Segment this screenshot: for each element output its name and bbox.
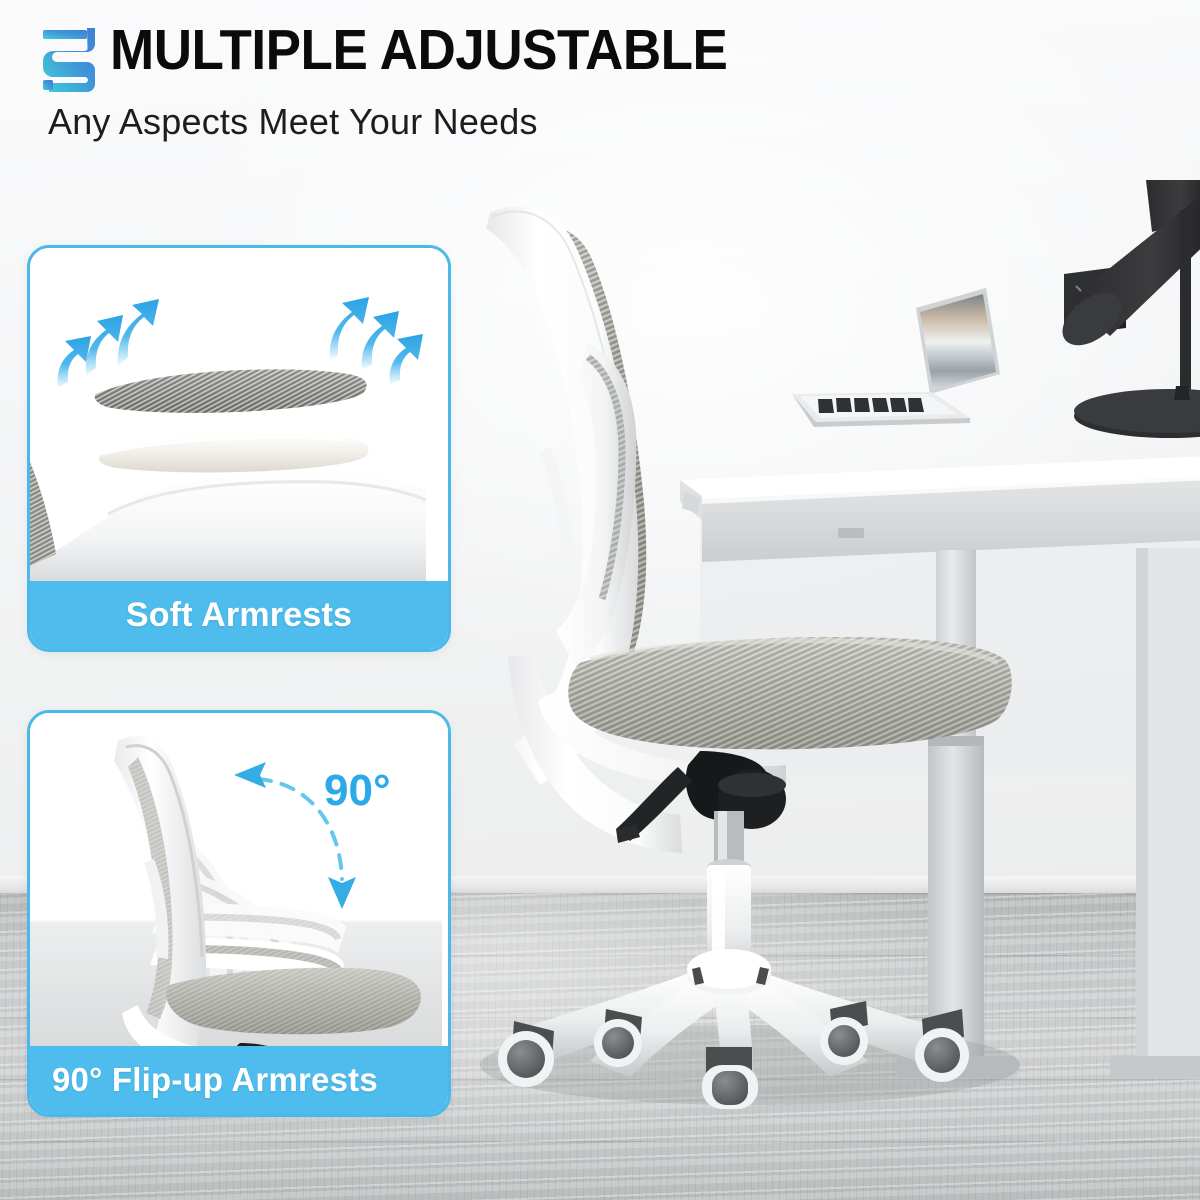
card-label-flip-up-armrests: 90° Flip-up Armrests bbox=[30, 1046, 451, 1114]
caster bbox=[702, 1047, 758, 1109]
brand-s-logo-icon bbox=[41, 26, 97, 92]
feature-card-soft-armrests[interactable]: Soft Armrests bbox=[27, 245, 451, 652]
mesh-top-pad bbox=[95, 369, 367, 413]
airflow-arrows-left bbox=[58, 299, 159, 388]
armrest-base-shell bbox=[30, 462, 426, 581]
page-title: MULTIPLE ADJUSTABLE bbox=[110, 22, 727, 79]
caster bbox=[498, 1021, 554, 1087]
feature-card-flip-up-armrests[interactable]: 90° 90° Flip-up Armrests bbox=[27, 710, 451, 1117]
page-subtitle: Any Aspects Meet Your Needs bbox=[48, 99, 538, 144]
mesh-seat bbox=[568, 637, 1011, 749]
armrest-flip-motion-diagram: 90° bbox=[30, 713, 448, 1046]
airflow-arrows-right bbox=[330, 297, 423, 384]
product-feature-graphic: MULTIPLE ADJUSTABLE Any Aspects Meet You… bbox=[0, 0, 1200, 1200]
office-chair bbox=[430, 185, 1050, 1125]
desk-lamp bbox=[1053, 180, 1200, 438]
foam-middle-pad bbox=[99, 434, 369, 472]
card-label-soft-armrests: Soft Armrests bbox=[30, 581, 448, 649]
chair-seat-side bbox=[166, 968, 421, 1034]
armrest-exploded-diagram bbox=[30, 248, 448, 581]
caster bbox=[915, 1009, 969, 1082]
angle-value-label: 90° bbox=[324, 766, 391, 815]
header: MULTIPLE ADJUSTABLE Any Aspects Meet You… bbox=[0, 0, 1200, 160]
